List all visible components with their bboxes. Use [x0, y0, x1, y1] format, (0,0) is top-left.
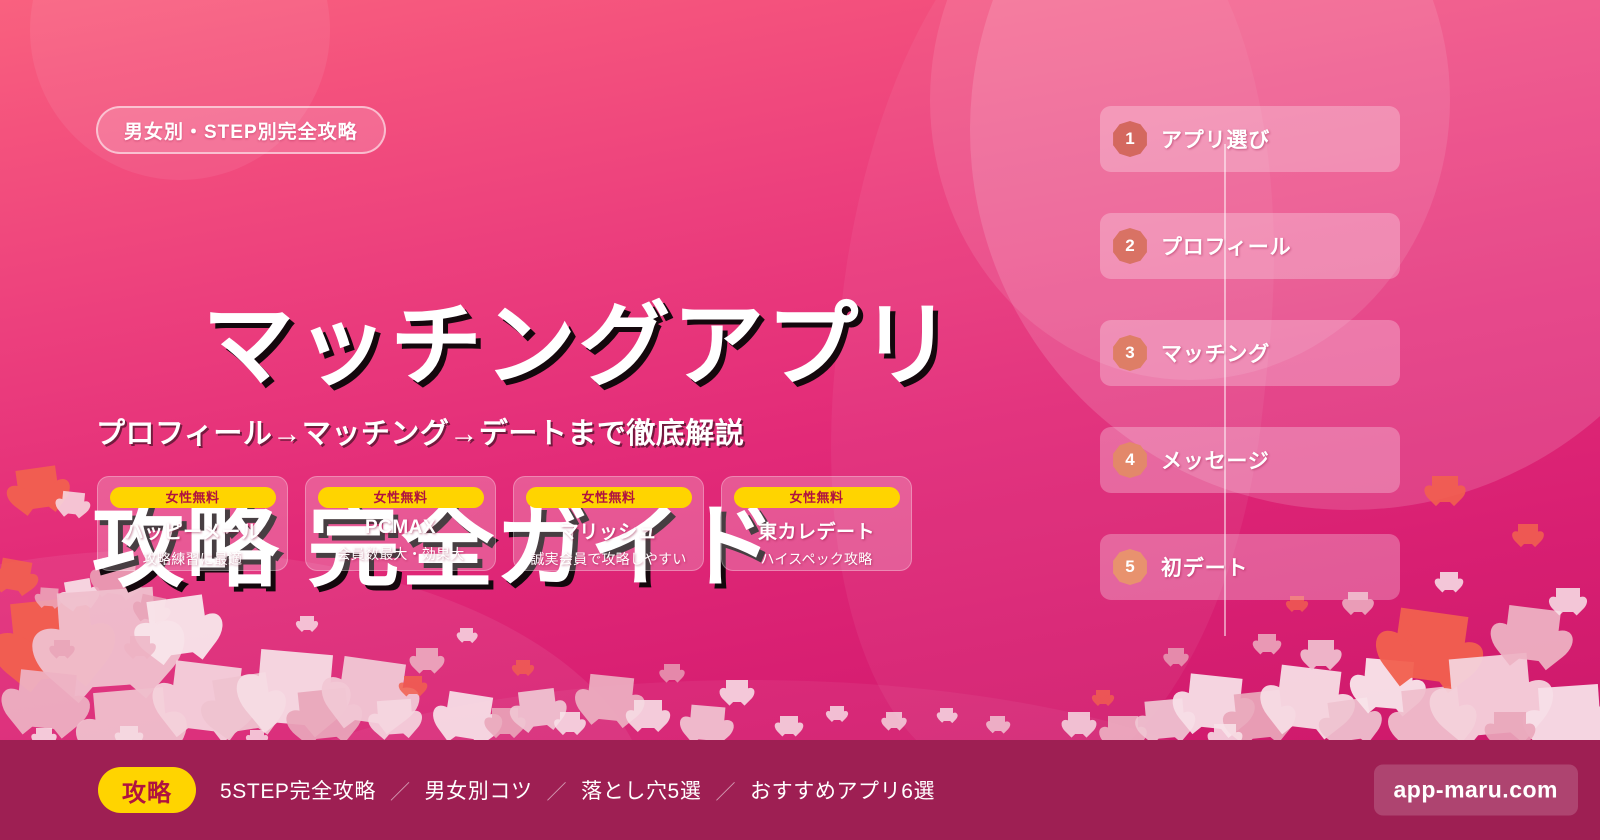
footer-separator: ／ — [715, 776, 736, 805]
eyebrow-label: 男女別・STEP別完全攻略 — [124, 117, 358, 144]
heart-icon — [1185, 673, 1242, 730]
footer-link-list: 5STEP完全攻略／男女別コツ／落とし穴5選／おすすめアプリ6選 — [220, 775, 935, 805]
free-for-women-badge: 女性無料 — [110, 487, 276, 508]
heart-icon — [1401, 685, 1463, 747]
heart-icon — [1440, 572, 1458, 590]
step-label: メッセージ — [1161, 445, 1270, 475]
heart-icon — [15, 465, 60, 510]
eyebrow-badge: 男女別・STEP別完全攻略 — [96, 106, 386, 154]
app-note: 会員数最大・効果大 — [316, 544, 485, 564]
step-timeline: 1アプリ選び2プロフィール3マッチング4メッセージ5初デート — [1100, 106, 1400, 600]
heart-icon — [1234, 690, 1285, 741]
heart-icon — [1449, 653, 1534, 738]
app-card[interactable]: 女性無料PCMAX会員数最大・効果大 — [305, 476, 496, 571]
app-name: 東カレデート — [732, 517, 901, 544]
title-line-1: マッチングアプリ — [202, 295, 954, 397]
app-card-list: 女性無料ハッピーメール攻略練習に最適女性無料PCMAX会員数最大・効果大女性無料… — [97, 476, 912, 571]
app-note: ハイスペック攻略 — [732, 549, 901, 569]
app-name: PCMAX — [316, 517, 485, 539]
heart-icon — [1432, 476, 1458, 502]
free-for-women-badge: 女性無料 — [734, 487, 900, 508]
heart-icon — [15, 669, 77, 731]
step-row-2[interactable]: 2プロフィール — [1100, 213, 1400, 279]
heart-icon — [1518, 524, 1538, 544]
footer-link[interactable]: おすすめアプリ6選 — [750, 775, 935, 805]
footer-separator: ／ — [547, 776, 568, 805]
app-name: ハッピーメール — [108, 517, 277, 544]
footer-separator: ／ — [390, 776, 411, 805]
heart-icon — [1258, 634, 1276, 652]
step-number-badge: 3 — [1112, 335, 1148, 371]
heart-icon — [64, 578, 94, 608]
app-note: 攻略練習に最適 — [108, 549, 277, 569]
step-number-badge: 5 — [1112, 549, 1148, 585]
app-card[interactable]: 女性無料東カレデートハイスペック攻略 — [721, 476, 912, 571]
heart-icon — [1327, 697, 1372, 742]
heart-icon — [61, 491, 85, 515]
footer-link[interactable]: 男女別コツ — [425, 775, 533, 805]
free-for-women-badge: 女性無料 — [318, 487, 484, 508]
step-number-badge: 1 — [1112, 121, 1148, 157]
app-card[interactable]: 女性無料マリッシュ誠実会員で攻略しやすい — [513, 476, 704, 571]
footer-link[interactable]: 5STEP完全攻略 — [220, 775, 376, 805]
site-url-badge: app-maru.com — [1374, 765, 1578, 816]
hero-banner: 男女別・STEP別完全攻略 マッチングアプリ 攻略 完全ガイド プロフィール→マ… — [0, 0, 1600, 840]
step-label: 初デート — [1161, 552, 1248, 582]
heart-icon — [990, 716, 1005, 731]
heart-icon — [1362, 658, 1414, 710]
step-row-3[interactable]: 3マッチング — [1100, 320, 1400, 386]
heart-icon — [1308, 640, 1334, 666]
step-row-1[interactable]: 1アプリ選び — [1100, 106, 1400, 172]
heart-icon — [0, 558, 32, 593]
heart-icon — [1275, 665, 1342, 732]
heart-icon — [1144, 698, 1185, 739]
heart-icon — [1168, 648, 1184, 664]
step-label: プロフィール — [1161, 231, 1291, 261]
free-for-women-badge: 女性無料 — [526, 487, 692, 508]
footer-bar: 攻略 5STEP完全攻略／男女別コツ／落とし穴5選／おすすめアプリ6選 app-… — [0, 740, 1600, 840]
app-note: 誠実会員で攻略しやすい — [524, 549, 693, 569]
heart-icon — [54, 640, 70, 656]
footer-badge: 攻略 — [98, 767, 196, 813]
step-row-5[interactable]: 5初デート — [1100, 534, 1400, 600]
step-row-4[interactable]: 4メッセージ — [1100, 427, 1400, 493]
heart-icon — [10, 596, 96, 682]
app-name: マリッシュ — [524, 517, 693, 544]
heart-icon — [1538, 684, 1600, 748]
heart-icon — [1096, 690, 1110, 704]
heart-icon — [1068, 712, 1090, 734]
page-subtitle: プロフィール→マッチング→デートまで徹底解説 — [96, 410, 744, 452]
step-number-badge: 4 — [1112, 442, 1148, 478]
step-label: マッチング — [1161, 338, 1270, 368]
heart-icon — [39, 587, 58, 606]
footer-link[interactable]: 落とし穴5選 — [581, 775, 701, 805]
heart-icon — [1503, 605, 1561, 663]
app-card[interactable]: 女性無料ハッピーメール攻略練習に最適 — [97, 476, 288, 571]
step-label: アプリ選び — [1161, 124, 1270, 154]
heart-icon — [1556, 588, 1580, 612]
heart-icon — [1392, 608, 1469, 685]
step-number-badge: 2 — [1112, 228, 1148, 264]
